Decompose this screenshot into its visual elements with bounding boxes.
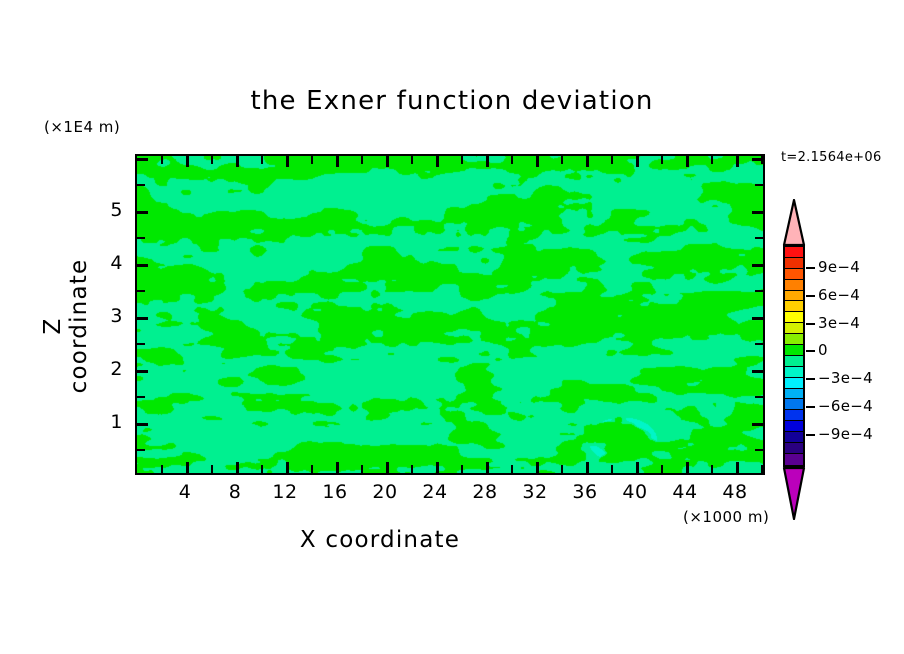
axis-tick <box>186 462 189 473</box>
axis-tick <box>536 156 539 167</box>
colorbar-band <box>785 421 803 432</box>
axis-tick <box>755 237 763 239</box>
axis-tick <box>752 370 763 373</box>
colorbar <box>783 245 805 467</box>
axis-tick <box>586 156 589 167</box>
colorbar-label: −9e−4 <box>818 425 873 443</box>
y-axis-tick-label: 2 <box>93 358 123 380</box>
y-axis-title: Z coordinate <box>40 246 92 406</box>
axis-tick <box>536 462 539 473</box>
colorbar-under-arrow <box>782 466 806 520</box>
axis-tick <box>361 465 363 473</box>
page-title: the Exner function deviation <box>0 86 904 116</box>
x-axis-tick-label: 12 <box>262 481 308 503</box>
axis-tick <box>755 184 763 186</box>
x-axis-tick-label: 4 <box>162 481 208 503</box>
colorbar-band <box>785 443 803 454</box>
colorbar-band <box>785 378 803 389</box>
axis-tick <box>761 465 763 473</box>
axis-tick <box>236 156 239 167</box>
axis-tick <box>137 237 145 239</box>
axis-tick <box>736 156 739 167</box>
colorbar-label: −3e−4 <box>818 369 873 387</box>
colorbar-band <box>785 258 803 269</box>
timestamp-annotation: t=2.1564e+06 <box>781 150 882 165</box>
colorbar-band <box>785 410 803 421</box>
axis-tick <box>636 156 639 167</box>
y-axis-unit-label: (×1E4 m) <box>44 118 120 136</box>
axis-tick <box>561 465 563 473</box>
y-axis-tick-label: 1 <box>93 411 123 433</box>
x-axis-tick-label: 24 <box>412 481 458 503</box>
colorbar-over-arrow <box>782 199 806 246</box>
colorbar-label: −6e−4 <box>818 397 873 415</box>
axis-tick <box>686 156 689 167</box>
colorbar-band <box>785 399 803 410</box>
axis-tick <box>611 156 613 164</box>
colorbar-band <box>785 345 803 356</box>
axis-tick <box>286 462 289 473</box>
axis-tick <box>752 211 763 214</box>
y-axis-tick-label: 5 <box>93 199 123 221</box>
axis-tick <box>211 156 213 164</box>
y-axis-tick-label: 4 <box>93 252 123 274</box>
axis-tick <box>137 449 145 451</box>
x-axis-tick-label: 16 <box>312 481 358 503</box>
colorbar-tick <box>806 378 815 380</box>
colorbar-band <box>785 301 803 312</box>
axis-tick <box>236 462 239 473</box>
colorbar-tick <box>806 434 815 436</box>
x-axis-tick-label: 40 <box>612 481 658 503</box>
axis-tick <box>755 290 763 292</box>
colorbar-band <box>785 367 803 378</box>
colorbar-tick <box>806 295 815 297</box>
axis-tick <box>436 462 439 473</box>
axis-tick <box>311 156 313 164</box>
axis-tick <box>636 462 639 473</box>
axis-tick <box>411 156 413 164</box>
colorbar-band <box>785 356 803 367</box>
axis-tick <box>137 396 145 398</box>
x-axis-tick-label: 36 <box>562 481 608 503</box>
axis-tick <box>211 465 213 473</box>
axis-tick <box>586 462 589 473</box>
axis-tick <box>752 317 763 320</box>
axis-tick <box>386 462 389 473</box>
x-axis-tick-label: 44 <box>662 481 708 503</box>
axis-tick <box>411 465 413 473</box>
x-axis-title: X coordinate <box>0 527 760 553</box>
axis-tick <box>486 156 489 167</box>
axis-tick <box>736 462 739 473</box>
axis-tick <box>755 396 763 398</box>
colorbar-label: 9e−4 <box>818 258 860 276</box>
colorbar-label: 6e−4 <box>818 286 860 304</box>
axis-tick <box>261 465 263 473</box>
x-axis-tick-label: 8 <box>212 481 258 503</box>
x-axis-tick-label: 32 <box>512 481 558 503</box>
axis-tick <box>137 158 148 161</box>
axis-tick <box>137 423 148 426</box>
axis-tick <box>752 423 763 426</box>
contour-field <box>137 156 763 473</box>
colorbar-tick <box>806 323 815 325</box>
colorbar-band <box>785 312 803 323</box>
axis-tick <box>261 156 263 164</box>
axis-tick <box>711 156 713 164</box>
colorbar-band <box>785 454 803 465</box>
axis-tick <box>755 343 763 345</box>
colorbar-band <box>785 334 803 345</box>
figure-canvas: the Exner function deviation (×1E4 m) t=… <box>0 0 904 654</box>
x-axis-unit-label: (×1000 m) <box>683 508 769 526</box>
axis-tick <box>561 156 563 164</box>
axis-tick <box>186 156 189 167</box>
colorbar-band <box>785 323 803 334</box>
colorbar-band <box>785 389 803 400</box>
axis-tick <box>161 156 163 164</box>
axis-tick <box>386 156 389 167</box>
axis-tick <box>336 462 339 473</box>
axis-tick <box>361 156 363 164</box>
axis-tick <box>137 264 148 267</box>
axis-tick <box>661 465 663 473</box>
y-axis-tick-label: 3 <box>93 305 123 327</box>
colorbar-band <box>785 280 803 291</box>
axis-tick <box>752 158 763 161</box>
axis-tick <box>137 184 145 186</box>
axis-tick <box>137 290 145 292</box>
axis-tick <box>661 156 663 164</box>
colorbar-band <box>785 291 803 302</box>
axis-tick <box>336 156 339 167</box>
axis-tick <box>137 211 148 214</box>
axis-tick <box>137 343 145 345</box>
x-axis-tick-label: 48 <box>712 481 758 503</box>
axis-tick <box>752 264 763 267</box>
axis-tick <box>137 317 148 320</box>
axis-tick <box>436 156 439 167</box>
axis-tick <box>161 465 163 473</box>
colorbar-band <box>785 247 803 258</box>
axis-tick <box>611 465 613 473</box>
axis-tick <box>686 462 689 473</box>
colorbar-label: 0 <box>818 341 828 359</box>
x-axis-tick-label: 28 <box>462 481 508 503</box>
x-axis-tick-label: 20 <box>362 481 408 503</box>
axis-tick <box>511 156 513 164</box>
axis-tick <box>511 465 513 473</box>
colorbar-tick <box>806 267 815 269</box>
colorbar-label: 3e−4 <box>818 314 860 332</box>
plot-area <box>135 154 765 475</box>
axis-tick <box>137 370 148 373</box>
axis-tick <box>461 465 463 473</box>
colorbar-tick <box>806 350 815 352</box>
colorbar-tick <box>806 406 815 408</box>
axis-tick <box>286 156 289 167</box>
colorbar-band <box>785 269 803 280</box>
axis-tick <box>311 465 313 473</box>
axis-tick <box>711 465 713 473</box>
axis-tick <box>486 462 489 473</box>
axis-tick <box>461 156 463 164</box>
axis-tick <box>755 449 763 451</box>
colorbar-band <box>785 432 803 443</box>
